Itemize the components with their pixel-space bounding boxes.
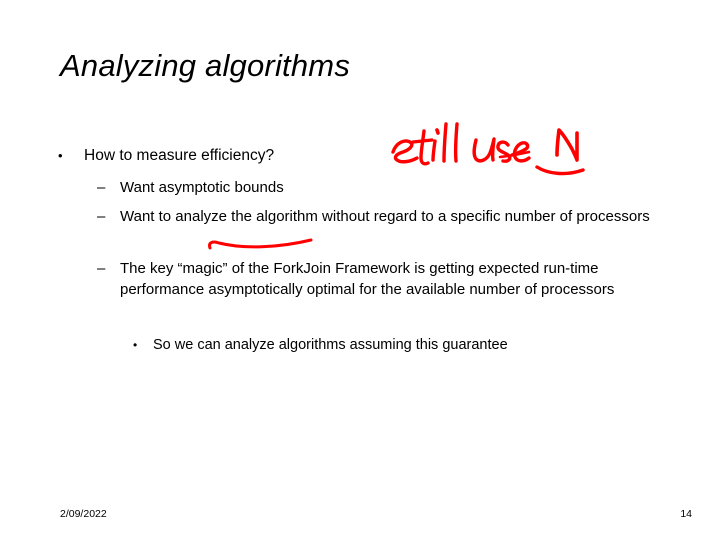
list-item: – Want to analyze the algorithm without … (97, 206, 675, 227)
bullet-marker-level1: • (58, 145, 84, 166)
ink-underline-n (537, 167, 583, 174)
bullet-marker-level2: – (97, 177, 120, 198)
slide-canvas: Analyzing algorithms • How to measure ef… (0, 0, 720, 540)
page-title: Analyzing algorithms (60, 48, 350, 84)
list-item: • How to measure efficiency? (58, 145, 678, 166)
bullet-text: Want to analyze the algorithm without re… (120, 206, 675, 227)
bullet-text: Want asymptotic bounds (120, 177, 675, 198)
list-item: – The key “magic” of the ForkJoin Framew… (97, 258, 675, 300)
list-item: • So we can analyze algorithms assuming … (133, 335, 678, 355)
footer-date: 2/09/2022 (60, 508, 107, 520)
bullet-marker-level3: • (133, 335, 153, 355)
bullet-text: So we can analyze algorithms assuming th… (153, 335, 678, 355)
footer-page-number: 14 (680, 508, 692, 520)
ink-underline-processors (210, 240, 311, 248)
bullet-marker-level2: – (97, 206, 120, 227)
bullet-marker-level2: – (97, 258, 120, 279)
list-item: – Want asymptotic bounds (97, 177, 675, 198)
bullet-text: The key “magic” of the ForkJoin Framewor… (120, 258, 675, 300)
bullet-text: How to measure efficiency? (84, 145, 678, 166)
